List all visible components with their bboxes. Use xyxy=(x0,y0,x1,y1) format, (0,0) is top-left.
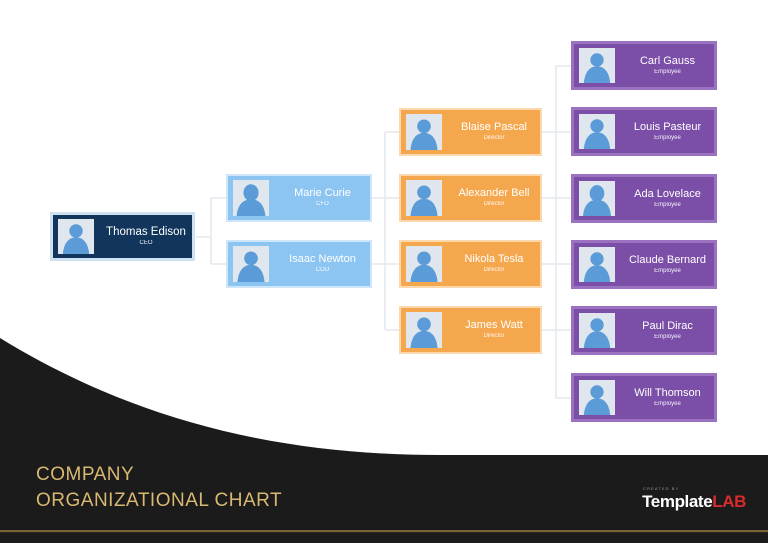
org-chart-slide: Thomas EdisonCEOMarie CurieCFOIsaac Newt… xyxy=(0,0,768,543)
node-name: Louis Pasteur xyxy=(625,121,710,134)
org-node-isaac-newton[interactable]: Isaac NewtonCOO xyxy=(226,240,372,288)
avatar-male xyxy=(406,312,442,348)
avatar-male xyxy=(579,380,615,415)
node-text: Paul DiracEmployee xyxy=(621,320,714,342)
logo-wordmark: TemplateLAB xyxy=(642,493,746,510)
node-role: Director xyxy=(452,200,536,209)
org-node-alexander-bell[interactable]: Alexander BellDirector xyxy=(399,174,542,222)
logo-word-template: Template xyxy=(642,492,712,511)
org-node-will-thomson[interactable]: Will ThomsonEmployee xyxy=(571,373,717,422)
node-role: COO xyxy=(279,266,366,275)
avatar-female xyxy=(233,180,269,216)
node-role: Director xyxy=(452,332,536,341)
node-text: James WattDirector xyxy=(448,319,540,341)
org-node-marie-curie[interactable]: Marie CurieCFO xyxy=(226,174,372,222)
node-role: Employee xyxy=(625,333,710,342)
node-role: Director xyxy=(452,266,536,275)
logo-word-lab: LAB xyxy=(712,492,746,511)
node-role: CFO xyxy=(279,200,366,209)
node-text: Ada LovelaceEmployee xyxy=(621,188,714,210)
templatelab-logo[interactable]: CREATED BY TemplateLAB xyxy=(642,487,746,510)
node-name: Paul Dirac xyxy=(625,320,710,333)
org-node-ada-lovelace[interactable]: Ada LovelaceEmployee xyxy=(571,174,717,223)
node-name: Isaac Newton xyxy=(279,253,366,266)
node-text: Alexander BellDirector xyxy=(448,187,540,209)
node-role: Employee xyxy=(625,134,710,143)
logo-kicker-text: CREATED BY xyxy=(642,487,746,491)
avatar-male xyxy=(406,180,442,216)
node-name: Claude Bernard xyxy=(625,254,710,267)
avatar-male xyxy=(406,114,442,150)
avatar-male xyxy=(579,114,615,149)
node-text: Carl GaussEmployee xyxy=(621,55,714,77)
avatar-male xyxy=(579,313,615,348)
node-name: Will Thomson xyxy=(625,387,710,400)
avatar-male xyxy=(579,48,615,83)
org-node-james-watt[interactable]: James WattDirector xyxy=(399,306,542,354)
node-text: Thomas EdisonCEO xyxy=(100,226,192,248)
footer-title-line-2: ORGANIZATIONAL CHART xyxy=(36,488,282,514)
node-text: Isaac NewtonCOO xyxy=(275,253,370,275)
node-name: Ada Lovelace xyxy=(625,188,710,201)
footer-title-line-1: COMPANY xyxy=(36,462,282,488)
avatar-male xyxy=(406,246,442,282)
avatar-male xyxy=(58,219,94,254)
org-node-louis-pasteur[interactable]: Louis PasteurEmployee xyxy=(571,107,717,156)
node-name: Nikola Tesla xyxy=(452,253,536,266)
org-node-thomas-edison[interactable]: Thomas EdisonCEO xyxy=(50,212,195,261)
avatar-male xyxy=(579,247,615,282)
org-node-claude-bernard[interactable]: Claude BernardEmployee xyxy=(571,240,717,289)
org-node-paul-dirac[interactable]: Paul DiracEmployee xyxy=(571,306,717,355)
node-name: Carl Gauss xyxy=(625,55,710,68)
node-name: James Watt xyxy=(452,319,536,332)
node-role: Employee xyxy=(625,68,710,77)
node-role: Director xyxy=(452,134,536,143)
node-text: Nikola TeslaDirector xyxy=(448,253,540,275)
org-node-carl-gauss[interactable]: Carl GaussEmployee xyxy=(571,41,717,90)
node-role: Employee xyxy=(625,400,710,409)
footer-title-block: COMPANY ORGANIZATIONAL CHART xyxy=(36,462,282,514)
node-name: Blaise Pascal xyxy=(452,121,536,134)
org-node-blaise-pascal[interactable]: Blaise PascalDirector xyxy=(399,108,542,156)
node-text: Claude BernardEmployee xyxy=(621,254,714,276)
node-text: Will ThomsonEmployee xyxy=(621,387,714,409)
node-name: Marie Curie xyxy=(279,187,366,200)
node-role: Employee xyxy=(625,201,710,210)
node-text: Blaise PascalDirector xyxy=(448,121,540,143)
node-name: Thomas Edison xyxy=(104,226,188,239)
node-text: Marie CurieCFO xyxy=(275,187,370,209)
node-text: Louis PasteurEmployee xyxy=(621,121,714,143)
avatar-female xyxy=(579,181,615,216)
node-role: Employee xyxy=(625,267,710,276)
avatar-male xyxy=(233,246,269,282)
node-name: Alexander Bell xyxy=(452,187,536,200)
node-role: CEO xyxy=(104,239,188,248)
org-node-nikola-tesla[interactable]: Nikola TeslaDirector xyxy=(399,240,542,288)
